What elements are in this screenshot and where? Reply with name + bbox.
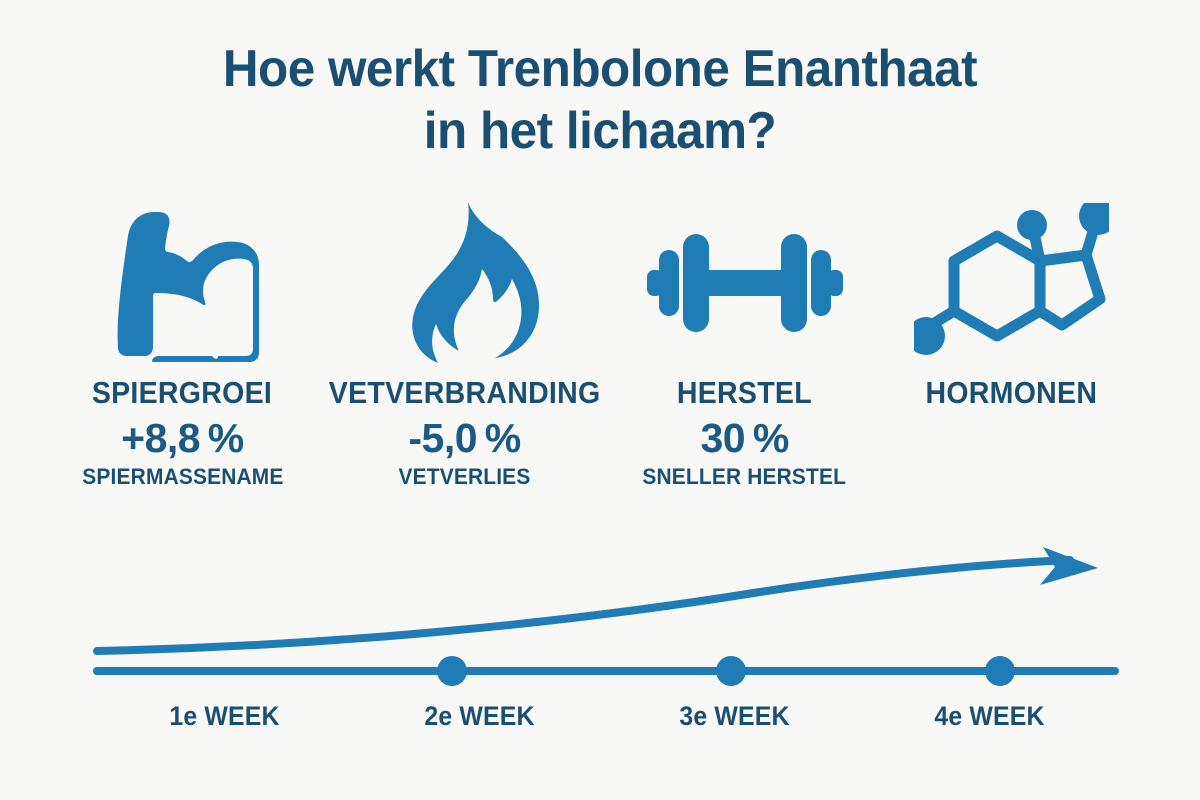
timeline-chart	[0, 520, 1200, 700]
metric-label: HERSTEL	[677, 376, 812, 410]
metric-value: -5,0 %	[408, 414, 520, 462]
molecule-icon	[914, 195, 1109, 370]
timeline-marker-week-4[interactable]	[985, 656, 1015, 686]
metric-value: +8,8 %	[121, 414, 244, 462]
growth-curve	[97, 560, 1070, 651]
metric-card-hormonen: HORMONEN	[883, 195, 1140, 416]
page-title: Hoe werkt Trenbolone Enanthaat in het li…	[0, 38, 1200, 162]
flame-icon	[390, 195, 540, 370]
metric-card-spiergroei: SPIERGROEI +8,8 % SPIERMASSENAME	[54, 195, 311, 490]
title-line-1: Hoe werkt Trenbolone Enanthaat	[30, 38, 1170, 100]
title-line-2: in het lichaam?	[30, 100, 1170, 162]
timeline-week-labels: 1e WEEK 2e WEEK 3e WEEK 4e WEEK	[97, 700, 1117, 732]
metric-card-vetverbranding: VETVERBRANDING -5,0 % VETVERLIES	[317, 195, 612, 490]
metric-label: VETVERBRANDING	[329, 376, 601, 410]
metric-sublabel: VETVERLIES	[399, 464, 531, 490]
timeline-marker-week-3[interactable]	[716, 656, 746, 686]
week-label-3: 3e WEEK	[617, 700, 852, 732]
metric-sublabel: SPIERMASSENAME	[82, 464, 283, 490]
metric-label: SPIERGROEI	[92, 376, 272, 410]
week-label-4: 4e WEEK	[872, 700, 1107, 732]
metrics-row: SPIERGROEI +8,8 % SPIERMASSENAME VETVERB…	[60, 195, 1140, 490]
metric-card-herstel: HERSTEL 30 % SNELLER HERSTEL	[616, 195, 873, 490]
flexed-bicep-icon	[96, 195, 268, 370]
dumbbell-icon	[645, 195, 845, 370]
metric-label: HORMONEN	[926, 376, 1098, 410]
infographic-root: Hoe werkt Trenbolone Enanthaat in het li…	[0, 0, 1200, 800]
metric-value: 30 %	[701, 414, 789, 462]
week-label-1: 1e WEEK	[107, 700, 342, 732]
growth-arrow-head	[1040, 547, 1098, 585]
timeline-marker-week-2[interactable]	[437, 656, 467, 686]
week-label-2: 2e WEEK	[362, 700, 597, 732]
metric-sublabel: SNELLER HERSTEL	[643, 464, 847, 490]
